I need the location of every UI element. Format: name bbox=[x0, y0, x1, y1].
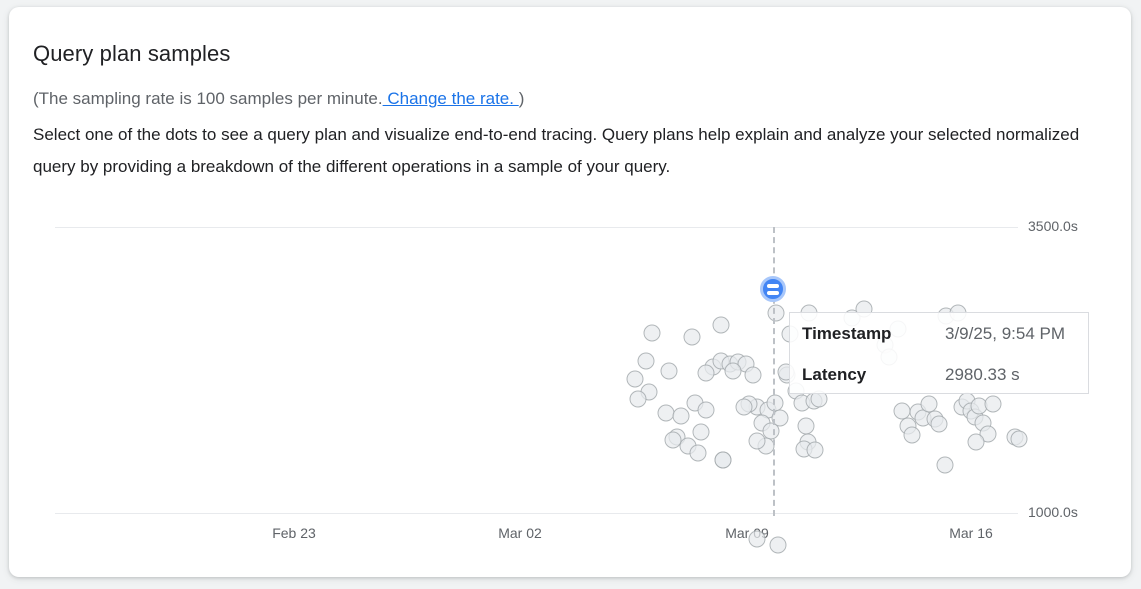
description-text: Select one of the dots to see a query pl… bbox=[33, 119, 1108, 183]
tooltip-row-latency: Latency 2980.33 s bbox=[790, 354, 1088, 395]
selected-sample-marker[interactable] bbox=[760, 276, 786, 302]
tooltip-timestamp-label: Timestamp bbox=[802, 324, 891, 344]
page-title: Query plan samples bbox=[33, 40, 230, 68]
tooltip-timestamp-value: 3/9/25, 9:54 PM bbox=[945, 324, 1065, 344]
query-plan-samples-card: Query plan samples (The sampling rate is… bbox=[9, 7, 1131, 577]
selected-marker-icon bbox=[767, 284, 779, 295]
sample-tooltip: Timestamp 3/9/25, 9:54 PM Latency 2980.3… bbox=[789, 312, 1089, 394]
sampling-rate-close-paren: ) bbox=[519, 89, 525, 108]
change-the-rate-link[interactable]: Change the rate. bbox=[383, 89, 519, 108]
screenshot-root: Query plan samples (The sampling rate is… bbox=[0, 0, 1141, 589]
sampling-rate-text: (The sampling rate is 100 samples per mi… bbox=[33, 89, 383, 108]
tooltip-latency-value: 2980.33 s bbox=[945, 365, 1020, 385]
latency-scatter-chart[interactable]: 3500.0s 1000.0s Feb 23 Mar 02 Mar 09 Mar… bbox=[9, 205, 1131, 555]
tooltip-row-timestamp: Timestamp 3/9/25, 9:54 PM bbox=[790, 313, 1088, 354]
sampling-rate-note: (The sampling rate is 100 samples per mi… bbox=[33, 87, 524, 111]
tooltip-latency-label: Latency bbox=[802, 365, 866, 385]
